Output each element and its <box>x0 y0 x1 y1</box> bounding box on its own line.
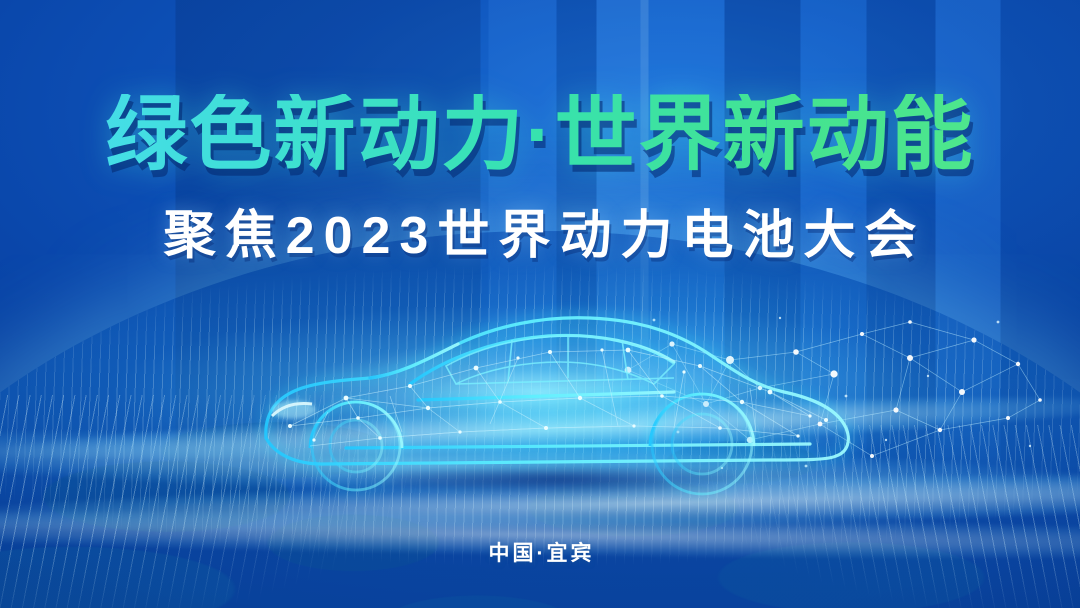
poster-subheadline: 聚焦2023世界动力电池大会 <box>0 210 1080 262</box>
electric-car-graphic <box>250 288 870 518</box>
conference-poster: 绿色新动力·世界新动能 聚焦2023世界动力电池大会 中国·宜宾 <box>0 0 1080 608</box>
poster-headline: 绿色新动力·世界新动能 <box>0 94 1080 176</box>
poster-location: 中国·宜宾 <box>0 543 1080 564</box>
car-wireframe-svg <box>250 288 870 518</box>
